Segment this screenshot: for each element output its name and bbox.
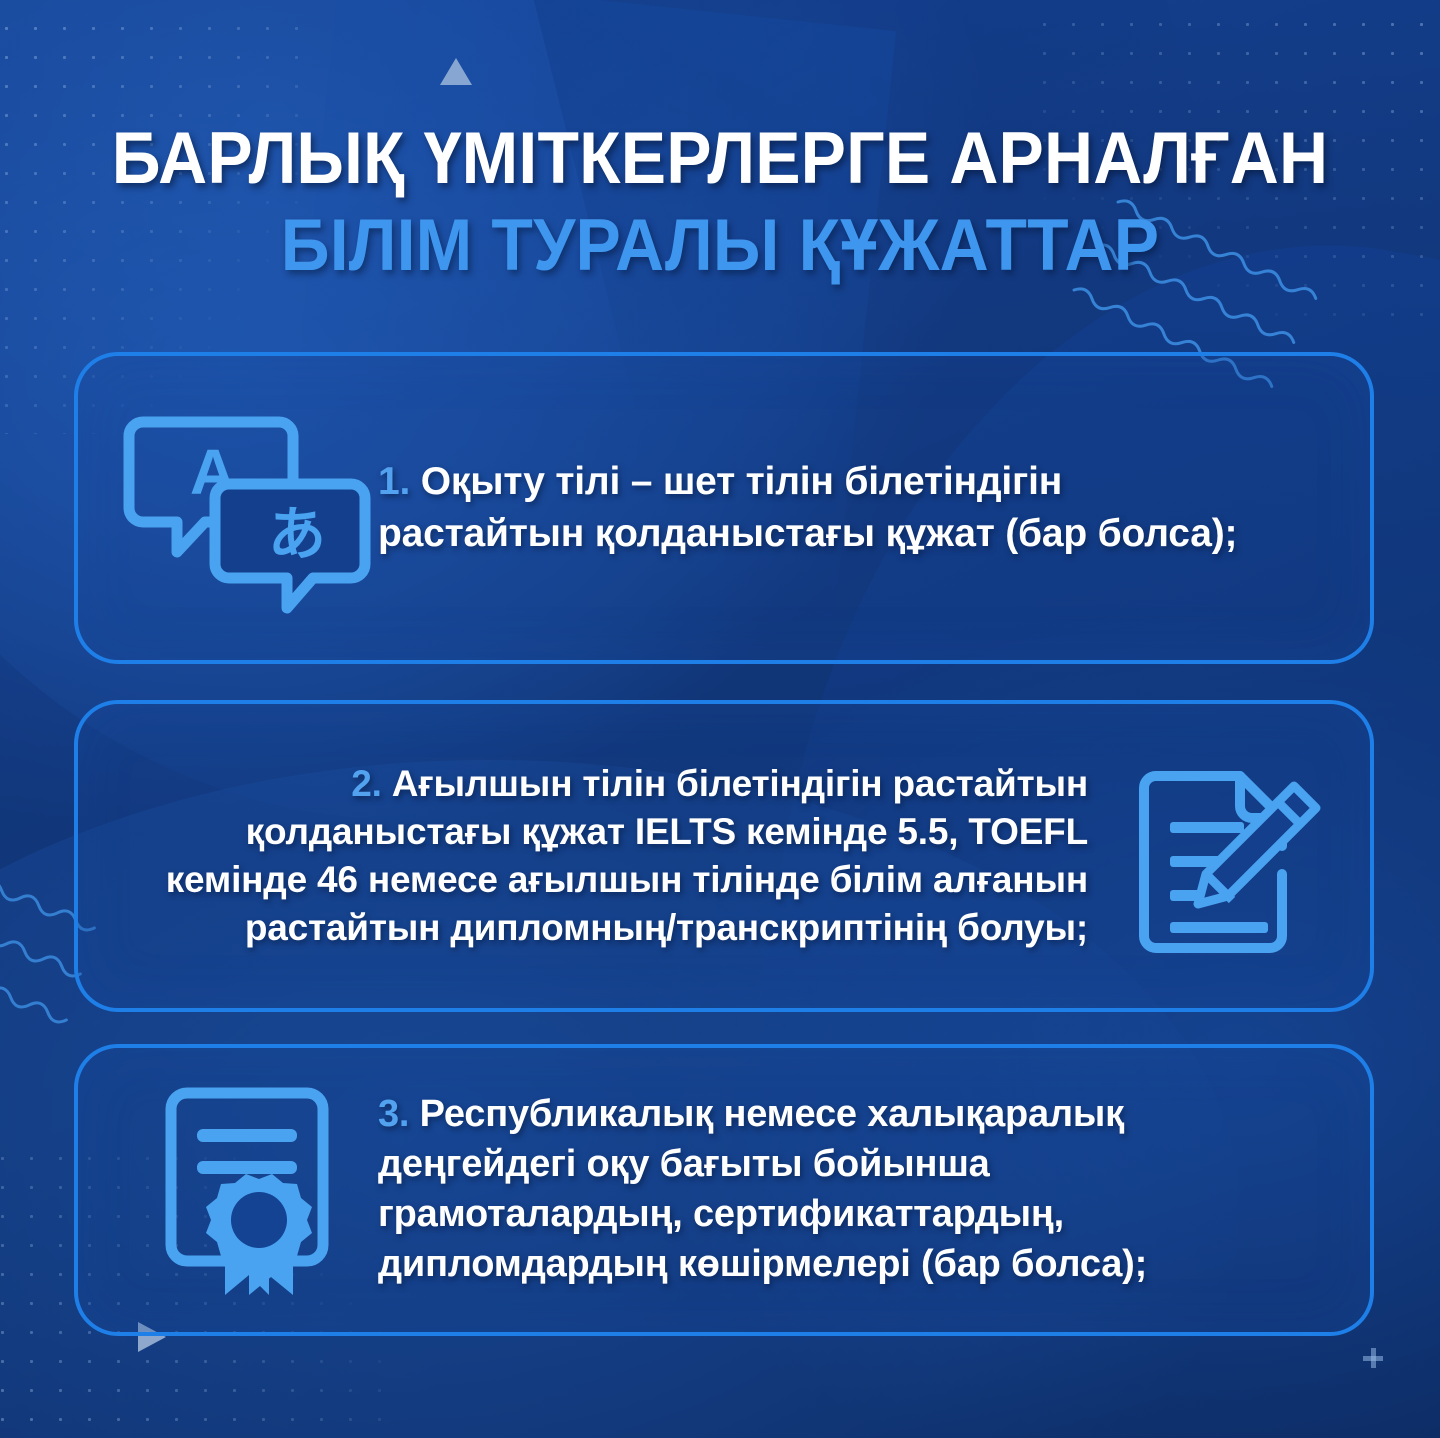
requirement-body-2: Ағылшын тілін білетіндігін растайтын қол… xyxy=(166,763,1088,948)
requirement-number-3: 3. xyxy=(378,1093,409,1135)
requirement-number-1: 1. xyxy=(378,460,410,503)
requirement-number-2: 2. xyxy=(351,763,381,804)
poster-canvas: БАРЛЫҚ ҮМІТКЕРЛЕРГЕ АРНАЛҒАН БІЛІМ ТУРАЛ… xyxy=(0,0,1440,1438)
requirement-card-2: 2. Ағылшын тілін білетіндігін растайтын … xyxy=(74,700,1374,1012)
document-pencil-icon xyxy=(1088,756,1368,956)
certificate-award-icon xyxy=(78,1083,378,1298)
requirement-text-2: 2. Ағылшын тілін білетіндігін растайтын … xyxy=(78,760,1088,952)
requirement-card-1: A あ 1. Оқыту тілі – шет тілін білетіндіг… xyxy=(74,352,1374,664)
title-line-1: БАРЛЫҚ ҮМІТКЕРЛЕРГЕ АРНАЛҒАН xyxy=(50,122,1389,195)
translate-speech-bubbles-icon: A あ xyxy=(78,408,378,608)
title-line-2: БІЛІМ ТУРАЛЫ ҚҰЖАТТАР xyxy=(50,209,1389,282)
svg-text:あ: あ xyxy=(268,502,326,567)
requirement-body-3: Республикалық немесе халықаралық деңгейд… xyxy=(378,1093,1147,1284)
requirement-text-1: 1. Оқыту тілі – шет тілін білетіндігін р… xyxy=(378,456,1278,560)
page-title: БАРЛЫҚ ҮМІТКЕРЛЕРГЕ АРНАЛҒАН БІЛІМ ТУРАЛ… xyxy=(0,122,1440,282)
requirement-card-3: 3. Республикалық немесе халықаралық деңг… xyxy=(74,1044,1374,1336)
plus-icon xyxy=(1363,1348,1383,1368)
triangle-up-icon xyxy=(440,58,472,85)
requirement-text-3: 3. Республикалық немесе халықаралық деңг… xyxy=(378,1090,1268,1289)
requirement-body-1: Оқыту тілі – шет тілін білетіндігін раст… xyxy=(378,460,1237,555)
